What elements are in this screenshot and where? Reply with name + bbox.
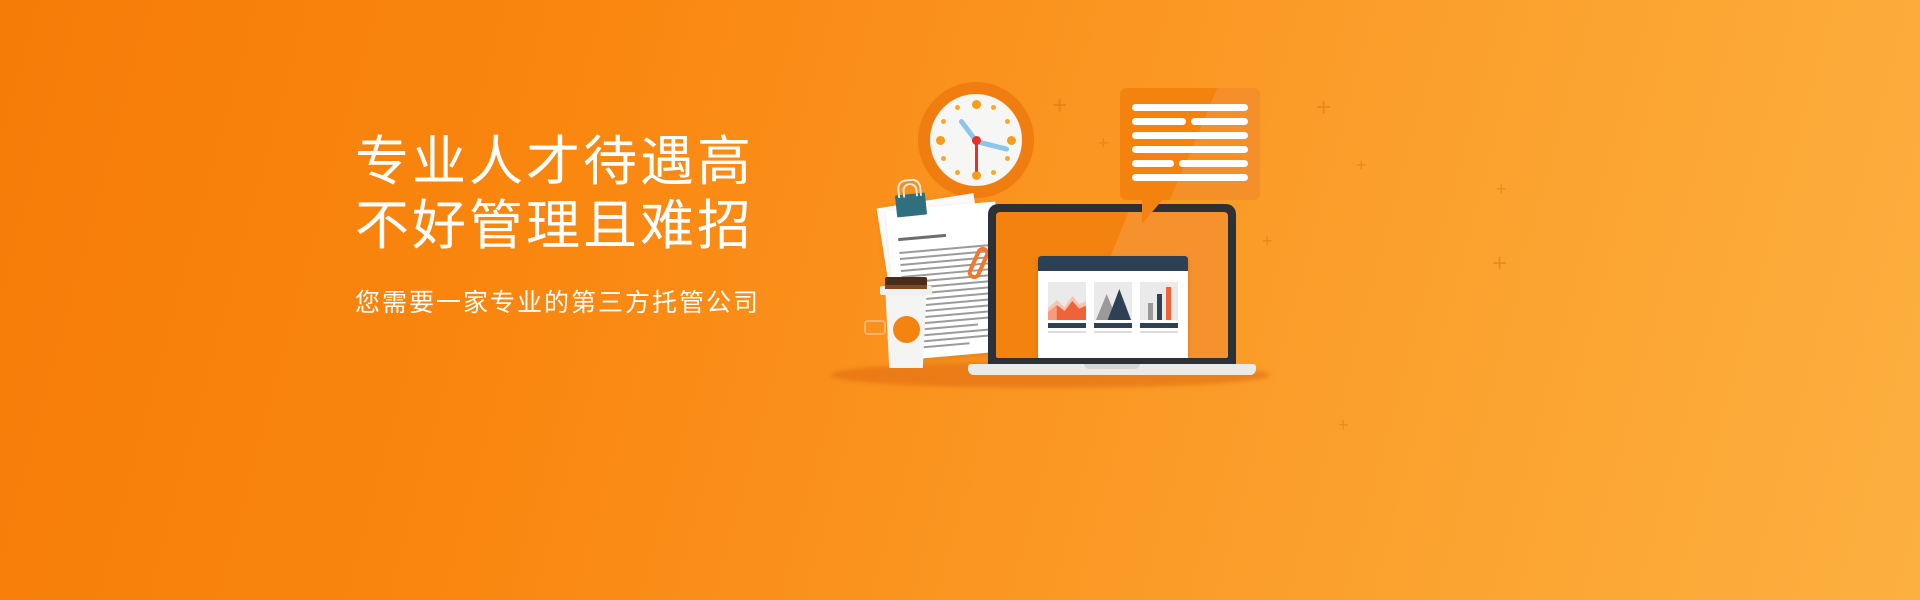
dashboard-cards: [1038, 271, 1188, 333]
clock-marker: [972, 171, 981, 180]
laptop-base-notch: [1084, 364, 1140, 369]
browser-titlebar: [1038, 256, 1188, 271]
clock-marker: [1007, 136, 1016, 145]
bar: [1166, 287, 1171, 320]
area-chart-plot: [1048, 282, 1086, 320]
coffee-cup-logo: [893, 316, 920, 343]
bubble-line-row: [1132, 132, 1248, 139]
bubble-line: [1132, 104, 1248, 111]
message-speech-bubble: [1120, 88, 1260, 200]
clock-marker: [941, 156, 946, 161]
bar: [1148, 303, 1153, 320]
card-footer-line: [1048, 331, 1086, 333]
clock-marker: [955, 105, 960, 110]
card-footer-bar: [1048, 323, 1086, 328]
bubble-line-row: [1132, 104, 1248, 111]
laptop-lid: [988, 204, 1236, 366]
bar: [1157, 294, 1162, 320]
mountain-chart-plot: [1094, 282, 1132, 320]
dashboard-browser-window: [1038, 256, 1188, 358]
card-footer-line: [1094, 331, 1132, 333]
speech-bubble-tail: [1142, 198, 1164, 224]
card-footer-bar: [1140, 323, 1178, 328]
bubble-line: [1179, 160, 1248, 167]
clock-marker: [936, 136, 945, 145]
clock-marker: [1005, 119, 1010, 124]
binder-clip-icon: [895, 192, 927, 217]
plus-decoration-icon: +: [1316, 94, 1331, 120]
bubble-line: [1132, 146, 1248, 153]
clock-marker: [941, 119, 946, 124]
bubble-line: [1191, 118, 1248, 125]
card-footer-bar: [1094, 323, 1132, 328]
card-footer-line: [1140, 331, 1178, 333]
mountain-chart-svg: [1094, 282, 1132, 320]
document-heading-line: [898, 234, 946, 241]
wall-clock-icon: [930, 94, 1022, 186]
bar-chart-bars: [1140, 282, 1178, 320]
clock-marker: [1005, 156, 1010, 161]
bubble-line-row: [1132, 146, 1248, 153]
bubble-line-row: [1132, 160, 1248, 167]
coffee-cup-lid: [885, 277, 927, 286]
clock-marker: [991, 105, 996, 110]
plus-decoration-icon: +: [1356, 152, 1367, 178]
bubble-text-lines: [1132, 104, 1248, 181]
clock-marker: [991, 170, 996, 175]
bubble-line: [1132, 132, 1248, 139]
small-bubble-decoration: [864, 320, 886, 335]
clock-marker: [955, 170, 960, 175]
mountain-chart-card: [1094, 282, 1132, 333]
hero-illustration: [820, 70, 1300, 410]
bubble-line: [1132, 118, 1186, 125]
bar-chart-card: [1140, 282, 1178, 333]
plus-decoration-icon: +: [1492, 250, 1507, 276]
clock-marker: [972, 100, 981, 109]
bubble-line: [1132, 174, 1248, 181]
hero-banner: + + + + + + + + 专业人才待遇高 不好管理且难招 您需要一家专业的…: [0, 0, 1920, 600]
plus-decoration-icon: +: [1496, 176, 1507, 202]
bubble-line-row: [1132, 174, 1248, 181]
bar-chart-plot: [1140, 282, 1178, 320]
bubble-line: [1132, 160, 1174, 167]
area-chart-svg: [1048, 282, 1086, 320]
plus-decoration-icon: +: [1338, 412, 1349, 438]
bubble-line-row: [1132, 118, 1248, 125]
laptop-screen: [996, 212, 1228, 358]
clock-center-pin: [972, 136, 981, 145]
area-chart-card: [1048, 282, 1086, 333]
